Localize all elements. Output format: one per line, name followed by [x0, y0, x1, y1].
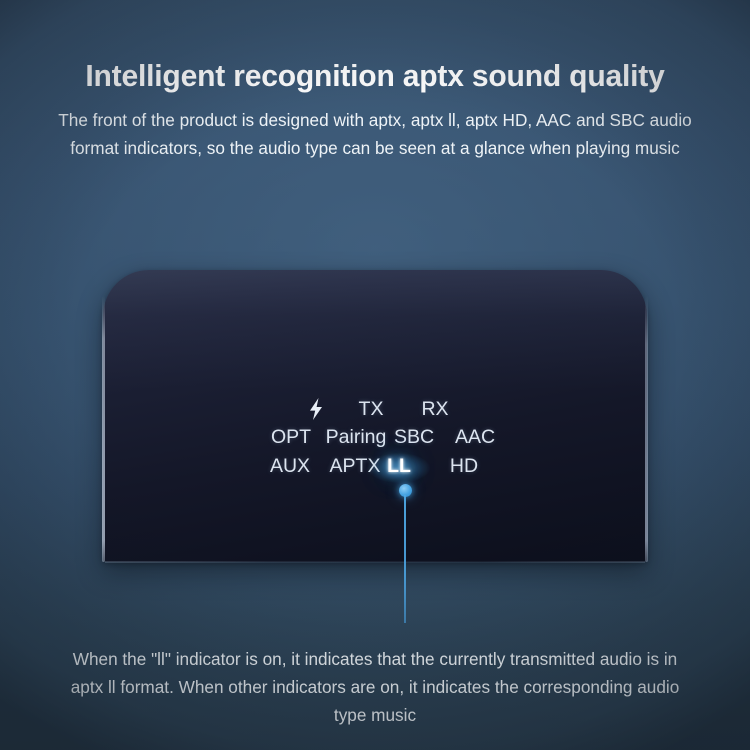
led-row-1: TX RX	[258, 396, 498, 422]
led-label-aptx: APTX	[330, 453, 381, 479]
led-label-tx: TX	[359, 396, 384, 422]
device-body: TX RX OPT Pairing SBC AAC AUX APTX LL HD	[103, 270, 647, 562]
caption-line-3: type music	[0, 707, 750, 724]
subtitle-line-1: The front of the product is designed wit…	[0, 112, 750, 129]
led-label-rx: RX	[421, 396, 448, 422]
lightning-bolt-icon	[308, 398, 324, 420]
page-title: Intelligent recognition aptx sound quali…	[6, 61, 745, 92]
led-label-opt: OPT	[271, 424, 311, 450]
led-label-pairing: Pairing	[326, 424, 387, 450]
device-top-sheen	[103, 270, 647, 390]
led-label-ll-active: LL	[387, 453, 411, 479]
device-image: TX RX OPT Pairing SBC AAC AUX APTX LL HD	[103, 270, 647, 562]
product-feature-slide: Intelligent recognition aptx sound quali…	[0, 0, 750, 750]
led-label-aac: AAC	[455, 424, 495, 450]
led-label-hd: HD	[450, 453, 478, 479]
led-row-2: OPT Pairing SBC AAC	[258, 424, 498, 450]
led-row-3: AUX APTX LL HD	[258, 453, 498, 479]
subtitle-line-2: format indicators, so the audio type can…	[0, 140, 750, 157]
caption-line-2: aptx ll format. When other indicators ar…	[0, 679, 750, 696]
led-label-aux: AUX	[270, 453, 310, 479]
device-bottom-rim	[105, 561, 645, 563]
led-label-sbc: SBC	[394, 424, 434, 450]
caption-line-1: When the "ll" indicator is on, it indica…	[0, 651, 750, 668]
led-indicator-panel: TX RX OPT Pairing SBC AAC AUX APTX LL HD	[258, 396, 498, 492]
